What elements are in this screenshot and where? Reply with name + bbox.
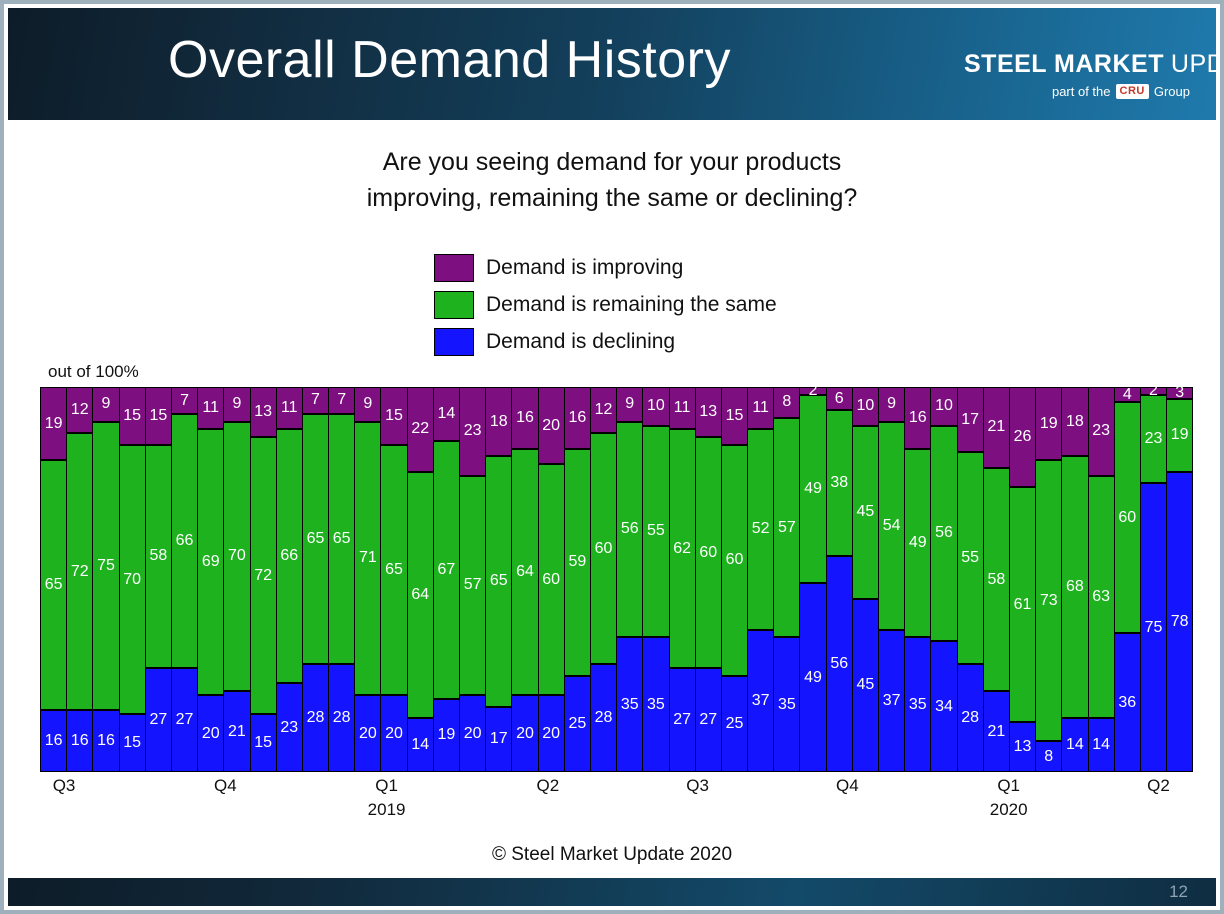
bar-segment-same: 60 bbox=[695, 437, 722, 668]
bar-value-label: 13 bbox=[699, 404, 717, 420]
bar-segment-imp: 23 bbox=[1088, 387, 1115, 476]
bar-column[interactable]: 206020 bbox=[539, 387, 565, 772]
bar-segment-same: 55 bbox=[957, 452, 984, 664]
x-tick-label: Q2 bbox=[1147, 776, 1170, 796]
bar-value-label: 9 bbox=[625, 396, 634, 412]
bar-segment-same: 64 bbox=[407, 472, 434, 718]
bar-value-label: 28 bbox=[333, 710, 351, 726]
bar-value-label: 59 bbox=[568, 554, 586, 570]
bar-column[interactable]: 76528 bbox=[303, 387, 329, 772]
bar-segment-same: 60 bbox=[721, 445, 748, 676]
bar-column[interactable]: 136027 bbox=[696, 387, 722, 772]
bar-segment-imp: 22 bbox=[407, 387, 434, 472]
bar-segment-imp: 11 bbox=[197, 387, 224, 429]
logo-word-market: MARKET bbox=[1054, 50, 1164, 78]
bar-segment-same: 60 bbox=[538, 464, 565, 695]
bar-segment-dec: 15 bbox=[119, 714, 146, 772]
bar-segment-imp: 15 bbox=[721, 387, 748, 445]
bar-segment-same: 64 bbox=[511, 449, 538, 695]
bar-segment-dec: 37 bbox=[878, 630, 905, 772]
bar-segment-same: 62 bbox=[669, 429, 696, 668]
bar-value-label: 49 bbox=[804, 670, 822, 686]
bar-segment-dec: 14 bbox=[407, 718, 434, 772]
bar-value-label: 70 bbox=[123, 572, 141, 588]
bar-value-label: 21 bbox=[228, 724, 246, 740]
bar-segment-same: 70 bbox=[223, 422, 250, 692]
bar-value-label: 64 bbox=[516, 564, 534, 580]
bar-segment-dec: 28 bbox=[328, 664, 355, 772]
bar-value-label: 19 bbox=[1040, 416, 1058, 432]
bar-value-label: 60 bbox=[726, 552, 744, 568]
bar-segment-dec: 8 bbox=[1035, 741, 1062, 772]
bar-segment-dec: 35 bbox=[616, 637, 643, 772]
legend-label: Demand is declining bbox=[486, 330, 675, 354]
bar-segment-imp: 7 bbox=[302, 387, 329, 414]
bar-segment-dec: 25 bbox=[721, 676, 748, 772]
bar-value-label: 36 bbox=[1118, 695, 1136, 711]
bar-value-label: 15 bbox=[123, 735, 141, 751]
bar-segment-same: 59 bbox=[564, 449, 591, 676]
bar-column[interactable]: 105535 bbox=[643, 387, 669, 772]
page-number: 12 bbox=[1169, 882, 1188, 902]
bar-value-label: 20 bbox=[542, 418, 560, 434]
bar-segment-imp: 10 bbox=[930, 387, 957, 426]
bar-segment-same: 57 bbox=[773, 418, 800, 637]
bar-segment-same: 65 bbox=[328, 414, 355, 664]
bar-segment-dec: 45 bbox=[852, 599, 879, 772]
x-tick-label: Q1 bbox=[997, 776, 1020, 796]
bar-value-label: 17 bbox=[961, 412, 979, 428]
bar-value-label: 4 bbox=[1123, 387, 1132, 403]
bar-segment-imp: 16 bbox=[904, 387, 931, 449]
bar-value-label: 56 bbox=[830, 656, 848, 672]
bar-segment-same: 67 bbox=[433, 441, 460, 699]
bar-segment-imp: 18 bbox=[1061, 387, 1088, 456]
bar-value-label: 20 bbox=[516, 726, 534, 742]
bar-value-label: 28 bbox=[307, 710, 325, 726]
steel-market-update-logo: STEEL MARKET UPDATE part of the CRU Grou… bbox=[912, 18, 1192, 114]
bar-segment-imp: 12 bbox=[66, 387, 93, 433]
bar-segment-imp: 10 bbox=[852, 387, 879, 426]
bar-value-label: 11 bbox=[281, 400, 298, 416]
slide-footer: 12 bbox=[8, 878, 1216, 906]
bar-column[interactable]: 235720 bbox=[460, 387, 486, 772]
bar-segment-imp: 12 bbox=[590, 387, 617, 433]
bar-value-label: 75 bbox=[97, 558, 115, 574]
bar-column[interactable]: 104545 bbox=[853, 387, 879, 772]
bar-value-label: 21 bbox=[987, 724, 1005, 740]
bar-segment-same: 45 bbox=[852, 426, 879, 599]
bar-value-label: 9 bbox=[232, 396, 241, 412]
bar-column[interactable]: 266113 bbox=[1010, 387, 1036, 772]
bar-segment-imp: 3 bbox=[1166, 387, 1193, 399]
bar-value-label: 9 bbox=[102, 396, 111, 412]
bar-segment-dec: 16 bbox=[40, 710, 67, 772]
bar-value-label: 57 bbox=[464, 577, 482, 593]
bar-segment-dec: 36 bbox=[1114, 633, 1141, 772]
bar-segment-same: 70 bbox=[119, 445, 146, 715]
bar-value-label: 10 bbox=[647, 398, 665, 414]
bar-value-label: 49 bbox=[804, 481, 822, 497]
bar-segment-same: 61 bbox=[1009, 487, 1036, 722]
bar-segment-dec: 14 bbox=[1061, 718, 1088, 772]
bar-segment-same: 66 bbox=[171, 414, 198, 668]
bar-value-label: 25 bbox=[568, 716, 586, 732]
bar-value-label: 20 bbox=[542, 726, 560, 742]
bar-column[interactable]: 31978 bbox=[1167, 387, 1193, 772]
bar-column[interactable]: 115237 bbox=[748, 387, 774, 772]
bar-segment-imp: 23 bbox=[459, 387, 486, 476]
bar-value-label: 10 bbox=[857, 398, 875, 414]
bar-segment-dec: 20 bbox=[459, 695, 486, 772]
bar-segment-same: 65 bbox=[485, 456, 512, 706]
legend-item-2[interactable]: Demand is declining bbox=[434, 323, 777, 360]
bar-segment-imp: 9 bbox=[616, 387, 643, 422]
bar-column[interactable]: 215821 bbox=[984, 387, 1010, 772]
bar-value-label: 72 bbox=[254, 568, 272, 584]
bar-value-label: 72 bbox=[71, 564, 89, 580]
bar-column[interactable]: 156025 bbox=[722, 387, 748, 772]
bar-column[interactable]: 22375 bbox=[1141, 387, 1167, 772]
bar-value-label: 17 bbox=[490, 731, 508, 747]
x-tick-label: Q2 bbox=[537, 776, 560, 796]
bar-column[interactable]: 186814 bbox=[1062, 387, 1088, 772]
bar-value-label: 68 bbox=[1066, 579, 1084, 595]
bar-value-label: 60 bbox=[542, 572, 560, 588]
bar-segment-dec: 78 bbox=[1166, 472, 1193, 772]
bar-value-label: 7 bbox=[311, 392, 320, 408]
bar-value-label: 27 bbox=[699, 712, 717, 728]
bar-value-label: 45 bbox=[857, 677, 875, 693]
bar-value-label: 70 bbox=[228, 548, 246, 564]
bar-value-label: 75 bbox=[1145, 620, 1163, 636]
bar-value-label: 12 bbox=[71, 402, 89, 418]
legend-item-0[interactable]: Demand is improving bbox=[434, 249, 777, 286]
bar-value-label: 63 bbox=[1092, 589, 1110, 605]
bar-value-label: 14 bbox=[1092, 737, 1110, 753]
bar-value-label: 54 bbox=[883, 518, 901, 534]
bar-value-label: 23 bbox=[280, 720, 298, 736]
bar-column[interactable]: 226414 bbox=[408, 387, 434, 772]
legend-swatch-icon bbox=[434, 328, 474, 356]
bar-segment-same: 65 bbox=[380, 445, 407, 695]
bar-value-label: 20 bbox=[202, 726, 220, 742]
bar-segment-dec: 20 bbox=[197, 695, 224, 772]
logo-word-update: UPDATE bbox=[1171, 50, 1216, 78]
bar-value-label: 35 bbox=[778, 697, 796, 713]
legend-swatch-icon bbox=[434, 291, 474, 319]
bar-column[interactable]: 236314 bbox=[1089, 387, 1115, 772]
bar-value-label: 16 bbox=[45, 733, 63, 749]
bar-column[interactable]: 76627 bbox=[172, 387, 198, 772]
bar-value-label: 11 bbox=[752, 400, 769, 416]
bar-value-label: 7 bbox=[180, 393, 189, 409]
bar-segment-imp: 11 bbox=[276, 387, 303, 429]
bar-segment-dec: 35 bbox=[642, 637, 669, 772]
bar-column[interactable]: 175528 bbox=[958, 387, 984, 772]
bar-column[interactable]: 166420 bbox=[512, 387, 538, 772]
bar-value-label: 58 bbox=[149, 548, 167, 564]
bar-value-label: 19 bbox=[438, 727, 456, 743]
bar-value-label: 38 bbox=[830, 475, 848, 491]
chart-question-line1: Are you seeing demand for your products bbox=[4, 144, 1220, 180]
bar-column[interactable]: 63856 bbox=[827, 387, 853, 772]
bar-value-label: 67 bbox=[438, 562, 456, 578]
bar-value-label: 58 bbox=[987, 572, 1005, 588]
bar-value-label: 45 bbox=[857, 504, 875, 520]
bar-segment-imp: 8 bbox=[773, 387, 800, 418]
bar-segment-imp: 13 bbox=[250, 387, 277, 437]
bar-value-label: 71 bbox=[359, 550, 377, 566]
bar-column[interactable]: 105634 bbox=[931, 387, 957, 772]
bar-segment-imp: 9 bbox=[354, 387, 381, 422]
bar-segment-same: 73 bbox=[1035, 460, 1062, 741]
bar-value-label: 15 bbox=[149, 408, 167, 424]
x-axis-year-label: 2020 bbox=[990, 800, 1028, 820]
bar-value-label: 11 bbox=[674, 400, 691, 416]
bar-value-label: 55 bbox=[961, 550, 979, 566]
bar-value-label: 25 bbox=[726, 716, 744, 732]
bar-column[interactable]: 164935 bbox=[905, 387, 931, 772]
bar-value-label: 10 bbox=[935, 398, 953, 414]
bar-column[interactable]: 19738 bbox=[1036, 387, 1062, 772]
slide-header: Overall Demand History STEEL MARKET UPDA… bbox=[8, 8, 1216, 120]
bar-value-label: 18 bbox=[490, 414, 508, 430]
bar-value-label: 21 bbox=[987, 419, 1005, 435]
bar-segment-imp: 13 bbox=[695, 387, 722, 437]
bar-segment-same: 71 bbox=[354, 422, 381, 695]
bar-column[interactable]: 186517 bbox=[486, 387, 512, 772]
logo-tagline: part of the CRU Group bbox=[1052, 84, 1190, 99]
bar-value-label: 7 bbox=[337, 392, 346, 408]
bar-column[interactable]: 196516 bbox=[41, 387, 67, 772]
bar-column[interactable]: 24949 bbox=[800, 387, 826, 772]
bar-segment-same: 72 bbox=[250, 437, 277, 714]
bar-segment-dec: 27 bbox=[145, 668, 172, 772]
bar-value-label: 11 bbox=[202, 400, 219, 416]
bar-value-label: 27 bbox=[149, 712, 167, 728]
bar-column[interactable]: 165925 bbox=[565, 387, 591, 772]
bar-value-label: 56 bbox=[935, 525, 953, 541]
bar-column[interactable]: 116920 bbox=[198, 387, 224, 772]
legend-swatch-icon bbox=[434, 254, 474, 282]
x-tick-label: Q4 bbox=[836, 776, 859, 796]
bar-value-label: 35 bbox=[909, 697, 927, 713]
bar-segment-dec: 35 bbox=[904, 637, 931, 772]
x-tick-label: Q1 bbox=[375, 776, 398, 796]
chart-question: Are you seeing demand for your products … bbox=[4, 144, 1220, 217]
bar-column[interactable]: 97021 bbox=[224, 387, 250, 772]
bar-segment-same: 69 bbox=[197, 429, 224, 695]
bar-segment-dec: 28 bbox=[302, 664, 329, 772]
bar-column[interactable]: 116227 bbox=[670, 387, 696, 772]
bar-segment-imp: 10 bbox=[642, 387, 669, 426]
bar-segment-imp: 16 bbox=[564, 387, 591, 449]
bar-value-label: 13 bbox=[1014, 739, 1032, 755]
bar-column[interactable]: 126028 bbox=[591, 387, 617, 772]
bar-value-label: 26 bbox=[1014, 429, 1032, 445]
bar-value-label: 15 bbox=[123, 408, 141, 424]
bar-value-label: 16 bbox=[568, 410, 586, 426]
cru-badge: CRU bbox=[1116, 84, 1149, 98]
x-axis-year-label: 2019 bbox=[368, 800, 406, 820]
bar-segment-same: 55 bbox=[642, 426, 669, 638]
bar-column[interactable]: 46036 bbox=[1115, 387, 1141, 772]
bar-value-label: 27 bbox=[673, 712, 691, 728]
bar-segment-same: 63 bbox=[1088, 476, 1115, 719]
bar-segment-dec: 28 bbox=[590, 664, 617, 772]
bar-segment-dec: 21 bbox=[983, 691, 1010, 772]
bar-segment-same: 19 bbox=[1166, 399, 1193, 472]
x-tick-label: Q3 bbox=[53, 776, 76, 796]
x-axis: Q3Q4Q12019Q2Q3Q4Q12020Q2 bbox=[41, 776, 1193, 826]
bar-column[interactable]: 97516 bbox=[93, 387, 119, 772]
bar-column[interactable]: 95635 bbox=[617, 387, 643, 772]
logo-wordmark: STEEL MARKET UPDATE bbox=[964, 50, 1216, 79]
bar-value-label: 20 bbox=[464, 726, 482, 742]
bar-segment-dec: 20 bbox=[538, 695, 565, 772]
bar-value-label: 18 bbox=[1066, 414, 1084, 430]
bar-value-label: 14 bbox=[1066, 737, 1084, 753]
bar-segment-dec: 20 bbox=[354, 695, 381, 772]
bar-value-label: 14 bbox=[438, 406, 456, 422]
bar-value-label: 9 bbox=[887, 396, 896, 412]
bar-value-label: 56 bbox=[621, 521, 639, 537]
logo-tagline-post: Group bbox=[1154, 84, 1190, 99]
bar-segment-dec: 16 bbox=[92, 710, 119, 772]
bar-segment-same: 49 bbox=[904, 449, 931, 638]
bar-value-label: 55 bbox=[647, 523, 665, 539]
page-title: Overall Demand History bbox=[168, 30, 731, 90]
bar-value-label: 61 bbox=[1014, 597, 1032, 613]
bar-value-label: 15 bbox=[726, 408, 744, 424]
bar-value-label: 13 bbox=[254, 404, 272, 420]
bar-column[interactable]: 156520 bbox=[381, 387, 407, 772]
bar-segment-dec: 20 bbox=[380, 695, 407, 772]
bar-segment-imp: 19 bbox=[1035, 387, 1062, 460]
bar-segment-dec: 20 bbox=[511, 695, 538, 772]
bar-value-label: 35 bbox=[621, 697, 639, 713]
bar-segment-same: 54 bbox=[878, 422, 905, 630]
bar-column[interactable]: 155827 bbox=[146, 387, 172, 772]
bar-column[interactable]: 95437 bbox=[879, 387, 905, 772]
bar-segment-dec: 16 bbox=[66, 710, 93, 772]
bar-column[interactable]: 85735 bbox=[774, 387, 800, 772]
x-tick-label: Q3 bbox=[686, 776, 709, 796]
bar-value-label: 65 bbox=[490, 573, 508, 589]
bar-segment-imp: 14 bbox=[433, 387, 460, 441]
bar-value-label: 73 bbox=[1040, 593, 1058, 609]
bar-segment-same: 72 bbox=[66, 433, 93, 710]
bar-segment-imp: 11 bbox=[747, 387, 774, 429]
bar-value-label: 20 bbox=[359, 726, 377, 742]
bar-value-label: 6 bbox=[835, 391, 844, 407]
bar-value-label: 65 bbox=[45, 577, 63, 593]
bar-segment-dec: 15 bbox=[250, 714, 277, 772]
bar-segment-imp: 15 bbox=[380, 387, 407, 445]
bar-value-label: 66 bbox=[280, 548, 298, 564]
bar-column[interactable]: 76528 bbox=[329, 387, 355, 772]
bar-value-label: 23 bbox=[1092, 423, 1110, 439]
bar-segment-same: 23 bbox=[1140, 395, 1167, 484]
bar-segment-dec: 23 bbox=[276, 683, 303, 772]
bar-value-label: 16 bbox=[516, 410, 534, 426]
bar-value-label: 65 bbox=[333, 531, 351, 547]
bar-value-label: 16 bbox=[71, 733, 89, 749]
bar-value-label: 69 bbox=[202, 554, 220, 570]
bar-column[interactable]: 146719 bbox=[434, 387, 460, 772]
bar-value-label: 16 bbox=[909, 410, 927, 426]
bar-value-label: 16 bbox=[97, 733, 115, 749]
axis-note: out of 100% bbox=[48, 362, 139, 382]
bar-segment-imp: 2 bbox=[799, 387, 826, 395]
bar-value-label: 8 bbox=[1044, 749, 1053, 765]
bar-column[interactable]: 116623 bbox=[277, 387, 303, 772]
bar-segment-dec: 17 bbox=[485, 707, 512, 772]
bar-value-label: 49 bbox=[909, 535, 927, 551]
bar-value-label: 22 bbox=[411, 421, 429, 437]
x-tick-label: Q4 bbox=[214, 776, 237, 796]
slide: Overall Demand History STEEL MARKET UPDA… bbox=[0, 0, 1224, 914]
bar-value-label: 66 bbox=[176, 533, 194, 549]
bar-value-label: 23 bbox=[1145, 431, 1163, 447]
bar-value-label: 34 bbox=[935, 699, 953, 715]
bar-segment-dec: 21 bbox=[223, 691, 250, 772]
bar-segment-same: 66 bbox=[276, 429, 303, 683]
bar-column[interactable]: 137215 bbox=[251, 387, 277, 772]
bar-segment-imp: 15 bbox=[145, 387, 172, 445]
legend-item-1[interactable]: Demand is remaining the same bbox=[434, 286, 777, 323]
bar-segment-same: 56 bbox=[930, 426, 957, 642]
bar-column[interactable]: 127216 bbox=[67, 387, 93, 772]
bar-value-label: 28 bbox=[595, 710, 613, 726]
bar-segment-dec: 56 bbox=[826, 556, 853, 772]
bar-segment-imp: 7 bbox=[328, 387, 355, 414]
bar-value-label: 15 bbox=[385, 408, 403, 424]
bar-segment-same: 75 bbox=[92, 422, 119, 711]
bar-segment-dec: 34 bbox=[930, 641, 957, 772]
bar-value-label: 37 bbox=[752, 693, 770, 709]
bar-column[interactable]: 97120 bbox=[355, 387, 381, 772]
bar-segment-same: 49 bbox=[799, 395, 826, 584]
bar-segment-dec: 14 bbox=[1088, 718, 1115, 772]
bar-value-label: 12 bbox=[595, 402, 613, 418]
bar-value-label: 64 bbox=[411, 587, 429, 603]
bar-segment-imp: 11 bbox=[669, 387, 696, 429]
bar-segment-same: 58 bbox=[145, 445, 172, 668]
bar-value-label: 57 bbox=[778, 520, 796, 536]
bar-segment-imp: 9 bbox=[223, 387, 250, 422]
bar-value-label: 60 bbox=[1118, 510, 1136, 526]
bar-segment-dec: 75 bbox=[1140, 483, 1167, 772]
logo-tagline-pre: part of the bbox=[1052, 84, 1111, 99]
bar-segment-same: 60 bbox=[590, 433, 617, 664]
bar-value-label: 14 bbox=[411, 737, 429, 753]
chart-question-line2: improving, remaining the same or declini… bbox=[4, 180, 1220, 216]
bar-column[interactable]: 157015 bbox=[120, 387, 146, 772]
bar-segment-dec: 27 bbox=[669, 668, 696, 772]
copyright-notice: © Steel Market Update 2020 bbox=[4, 844, 1220, 866]
bar-segment-imp: 17 bbox=[957, 387, 984, 452]
bar-segment-dec: 13 bbox=[1009, 722, 1036, 772]
bar-segment-dec: 37 bbox=[747, 630, 774, 772]
bar-segment-dec: 27 bbox=[171, 668, 198, 772]
bar-value-label: 23 bbox=[464, 423, 482, 439]
bar-segment-dec: 19 bbox=[433, 699, 460, 772]
bar-segment-dec: 25 bbox=[564, 676, 591, 772]
bar-value-label: 28 bbox=[961, 710, 979, 726]
bar-value-label: 19 bbox=[45, 416, 63, 432]
